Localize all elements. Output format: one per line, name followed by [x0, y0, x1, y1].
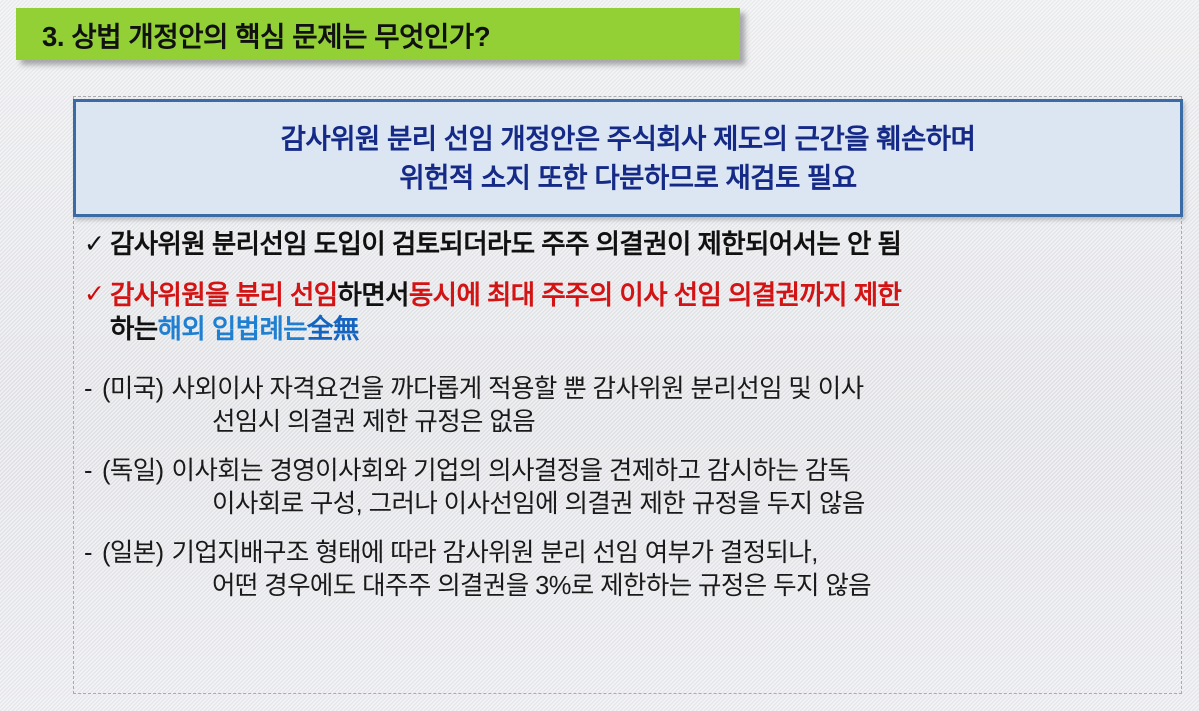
sub-item-germany-text-2: 이사회로 구성, 그러나 이사선임에 의결권 제한 규정을 두지 않음 — [84, 488, 1179, 521]
sub-item-japan-label: (일본) — [102, 537, 164, 570]
sub-item-usa-text-1: 사외이사 자격요건을 까다롭게 적용할 뿐 감사위원 분리선임 및 이사 — [164, 373, 864, 406]
bullet-item-1: ✓ 감사위원 분리선임 도입이 검토되더라도 주주 의결권이 제한되어서는 안 … — [84, 228, 1179, 262]
slide-title-bar: 3. 상법 개정안의 핵심 문제는 무엇인가? — [16, 8, 740, 60]
sub-item-japan-text-1: 기업지배구조 형태에 따라 감사위원 분리 선임 여부가 결정되나, — [164, 537, 818, 570]
bullet-item-2-line-1: 감사위원을 분리 선임하면서동시에 최대 주주의 이사 선임 의결권까지 제한 — [110, 278, 1179, 312]
headline-line-2: 위헌적 소지 또한 다분하므로 재검토 필요 — [399, 158, 856, 197]
sub-item-usa-label: (미국) — [102, 373, 164, 406]
bullet-list: ✓ 감사위원 분리선임 도입이 검토되더라도 주주 의결권이 제한되어서는 안 … — [84, 228, 1179, 604]
bullet-2-seg-2: 하면서 — [338, 280, 409, 310]
headline-line-1: 감사위원 분리 선임 개정안은 주식회사 제도의 근간을 훼손하며 — [281, 119, 976, 158]
sub-item-usa-line-1: - (미국) 사외이사 자격요건을 까다롭게 적용할 뿐 감사위원 분리선임 및… — [84, 373, 1179, 406]
bullet-2-seg-6: 全無 — [307, 314, 359, 344]
dash-icon: - — [84, 537, 102, 570]
sub-item-japan: - (일본) 기업지배구조 형태에 따라 감사위원 분리 선임 여부가 결정되나… — [84, 537, 1179, 603]
bullet-2-seg-4: 하는 — [110, 314, 158, 344]
spacer-2 — [84, 347, 1179, 357]
slide-canvas: 3. 상법 개정안의 핵심 문제는 무엇인가? 감사위원 분리 선임 개정안은 … — [0, 0, 1199, 711]
check-icon: ✓ — [84, 228, 110, 260]
sub-item-germany-line-1: - (독일) 이사회는 경영이사회와 기업의 의사결정을 견제하고 감시하는 감… — [84, 455, 1179, 488]
headline-callout: 감사위원 분리 선임 개정안은 주식회사 제도의 근간을 훼손하며 위헌적 소지… — [73, 99, 1183, 217]
bullet-item-1-body: 감사위원 분리선임 도입이 검토되더라도 주주 의결권이 제한되어서는 안 됨 — [110, 228, 1179, 262]
bullet-item-2-body: 감사위원을 분리 선임하면서동시에 최대 주주의 이사 선임 의결권까지 제한 … — [110, 278, 1179, 347]
bullet-item-2-line-2: 하는해외 입법례는全無 — [110, 312, 1179, 346]
spacer-1 — [84, 262, 1179, 278]
page-title: 3. 상법 개정안의 핵심 문제는 무엇인가? — [16, 14, 490, 54]
sub-item-germany: - (독일) 이사회는 경영이사회와 기업의 의사결정을 견제하고 감시하는 감… — [84, 455, 1179, 521]
dash-icon: - — [84, 455, 102, 488]
bullet-2-seg-1: 감사위원을 분리 선임 — [110, 280, 338, 310]
bullet-2-seg-5: 해외 입법례는 — [158, 314, 307, 344]
sub-item-germany-text-1: 이사회는 경영이사회와 기업의 의사결정을 견제하고 감시하는 감독 — [164, 455, 851, 488]
bullet-item-2: ✓ 감사위원을 분리 선임하면서동시에 최대 주주의 이사 선임 의결권까지 제… — [84, 278, 1179, 347]
bullet-2-seg-3: 동시에 최대 주주의 이사 선임 의결권까지 제한 — [409, 280, 901, 310]
sub-item-usa-text-2: 선임시 의결권 제한 규정은 없음 — [84, 406, 1179, 439]
bullet-item-1-text: 감사위원 분리선임 도입이 검토되더라도 주주 의결권이 제한되어서는 안 됨 — [110, 229, 901, 259]
sub-item-germany-label: (독일) — [102, 455, 164, 488]
dash-icon: - — [84, 373, 102, 406]
sub-item-japan-text-2: 어떤 경우에도 대주주 의결권을 3%로 제한하는 규정은 두지 않음 — [84, 570, 1179, 603]
sub-item-usa: - (미국) 사외이사 자격요건을 까다롭게 적용할 뿐 감사위원 분리선임 및… — [84, 373, 1179, 439]
sub-item-japan-line-1: - (일본) 기업지배구조 형태에 따라 감사위원 분리 선임 여부가 결정되나… — [84, 537, 1179, 570]
check-icon: ✓ — [84, 278, 110, 310]
